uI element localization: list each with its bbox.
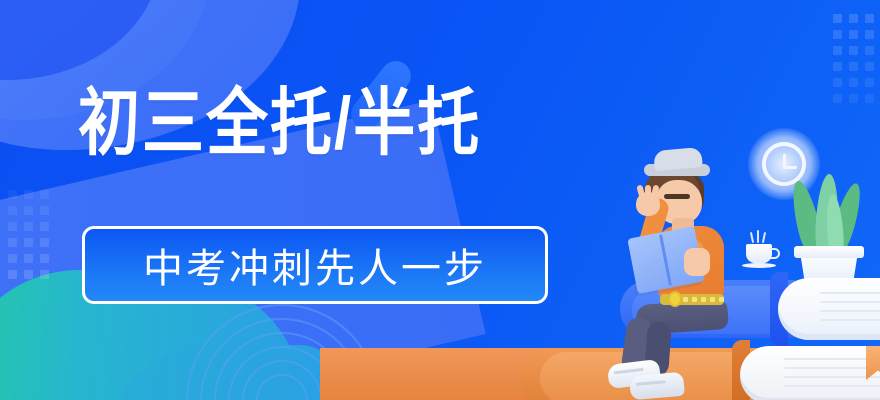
- page-line: [784, 385, 880, 387]
- figure-shoe: [629, 372, 685, 400]
- plant-pot-rim: [794, 246, 864, 258]
- student-figure: [620, 150, 770, 350]
- page-line: [784, 376, 880, 378]
- clock-minute-hand: [785, 166, 797, 169]
- belt-stud: [710, 297, 715, 302]
- page-line: [784, 358, 880, 360]
- belt-stud: [701, 297, 706, 302]
- page-line: [820, 292, 880, 294]
- banner-headline: 初三全托/半托: [78, 88, 481, 161]
- page-line: [784, 367, 880, 369]
- subtitle-box[interactable]: 中考冲刺先人一步: [82, 226, 548, 304]
- banner-subtitle: 中考冲刺先人一步: [143, 236, 487, 294]
- belt-stud: [692, 297, 697, 302]
- promo-banner: 初三全托/半托 中考冲刺先人一步: [0, 0, 880, 400]
- belt-stud: [719, 297, 724, 302]
- figure-raised-hand: [636, 192, 660, 216]
- figure-lower-hand: [684, 248, 710, 276]
- orange-book-pages: [740, 346, 880, 400]
- page-line: [820, 310, 880, 312]
- figure-eyebrow: [664, 194, 690, 199]
- figure-belt-buckle: [668, 291, 682, 307]
- figure-hat-crown: [653, 147, 703, 171]
- belt-stud: [683, 297, 688, 302]
- text-content: 初三全托/半托 中考冲刺先人一步: [0, 0, 620, 400]
- cup-handle: [769, 248, 780, 259]
- page-line: [820, 319, 880, 321]
- illustration: [580, 0, 880, 400]
- page-line: [820, 301, 880, 303]
- blue-book-pages: [778, 278, 880, 340]
